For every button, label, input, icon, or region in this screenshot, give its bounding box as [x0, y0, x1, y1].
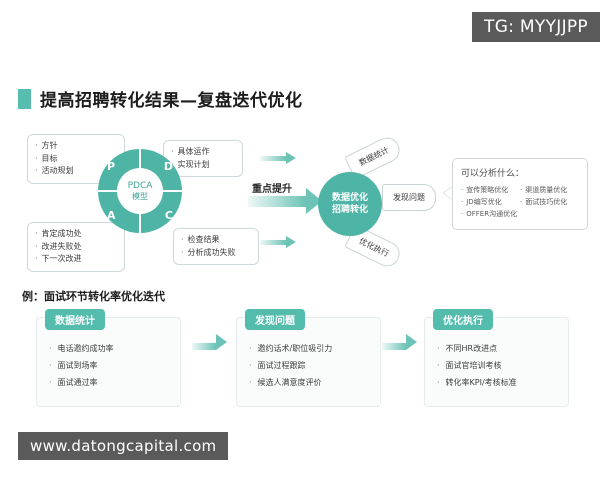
core-petal-find-problems: 发现问题: [382, 184, 436, 211]
list-item: 面试到场率: [49, 357, 180, 374]
list-item: 检查结果: [181, 234, 251, 247]
list-item: 分析成功失败: [181, 247, 251, 260]
example-section-title: 例：面试环节转化率优化迭代: [22, 288, 165, 304]
pdca-label-a: A: [107, 209, 116, 222]
analysis-callout-box: 可以分析什么： 宣传策略优化 渠道质量优化 JD编写优化 面试技巧优化 OFFE…: [452, 158, 588, 230]
example-panel-find-problems: 发现问题 邀约话术/职位吸引力 面试过程跟踪 候选人满意度评价: [236, 317, 381, 407]
core-petal-label: 优化执行: [357, 236, 391, 260]
panel-tag: 数据统计: [45, 309, 105, 330]
panel-tag: 优化执行: [433, 309, 493, 330]
page-title-text: 提高招聘转化结果—复盘迭代优化: [40, 86, 303, 111]
analysis-item-grid: 宣传策略优化 渠道质量优化 JD编写优化 面试技巧优化 OFFER沟通优化: [461, 184, 579, 220]
core-circle-line2: 招聘转化: [332, 204, 368, 216]
pdca-box-check: 检查结果 分析成功失败: [173, 228, 259, 265]
core-petal-label: 发现问题: [393, 192, 425, 203]
list-item: 不同HR改进点: [437, 340, 568, 357]
analysis-title: 可以分析什么：: [461, 166, 579, 179]
analysis-item: JD编写优化: [461, 196, 520, 208]
analysis-item: OFFER沟通优化: [461, 208, 520, 220]
list-item: 面试过程跟踪: [249, 357, 380, 374]
panel-arrow-2: [382, 343, 406, 350]
title-accent-square: [18, 89, 31, 109]
pdca-label-p: P: [107, 160, 115, 173]
example-panel-optimize-execution: 优化执行 不同HR改进点 面试官培训考核 转化率KPI/考核标准: [424, 317, 569, 407]
list-item: 候选人满意度评价: [249, 374, 380, 391]
focus-label: 重点提升: [252, 180, 292, 195]
core-circle: 数据优化 招聘转化: [318, 172, 382, 236]
analysis-item: 渠道质量优化: [520, 184, 579, 196]
core-petal-label: 数据统计: [357, 145, 391, 169]
analysis-item: 面试技巧优化: [520, 196, 579, 208]
page-title: 提高招聘转化结果—复盘迭代优化: [18, 86, 303, 111]
tg-watermark-badge: TG: MYYJJPP: [472, 12, 600, 42]
list-item: 下一次改进: [35, 253, 117, 266]
pdca-hub-cn-label: 模型: [132, 192, 148, 202]
pdca-hub-en-label: PDCA: [128, 181, 153, 192]
pdca-label-c: C: [165, 209, 173, 222]
list-item: 面试通过率: [49, 374, 180, 391]
list-item: 电话邀约成功率: [49, 340, 180, 357]
list-item: 转化率KPI/考核标准: [437, 374, 568, 391]
pdca-hub: PDCA 模型: [117, 168, 163, 214]
pdca-label-d: D: [164, 160, 173, 173]
core-circle-line1: 数据优化: [332, 192, 368, 204]
panel-arrow-1: [192, 343, 216, 350]
site-watermark-badge: www.datongcapital.com: [18, 432, 228, 460]
example-panel-data-statistics: 数据统计 电话邀约成功率 面试到场率 面试通过率: [36, 317, 181, 407]
panel-tag: 发现问题: [245, 309, 305, 330]
list-item: 面试官培训考核: [437, 357, 568, 374]
pdca-donut-diagram: P D A C PDCA 模型: [98, 149, 182, 233]
list-item: 改进失败处: [35, 241, 117, 254]
analysis-item: 宣传策略优化: [461, 184, 520, 196]
list-item: 邀约话术/职位吸引力: [249, 340, 380, 357]
